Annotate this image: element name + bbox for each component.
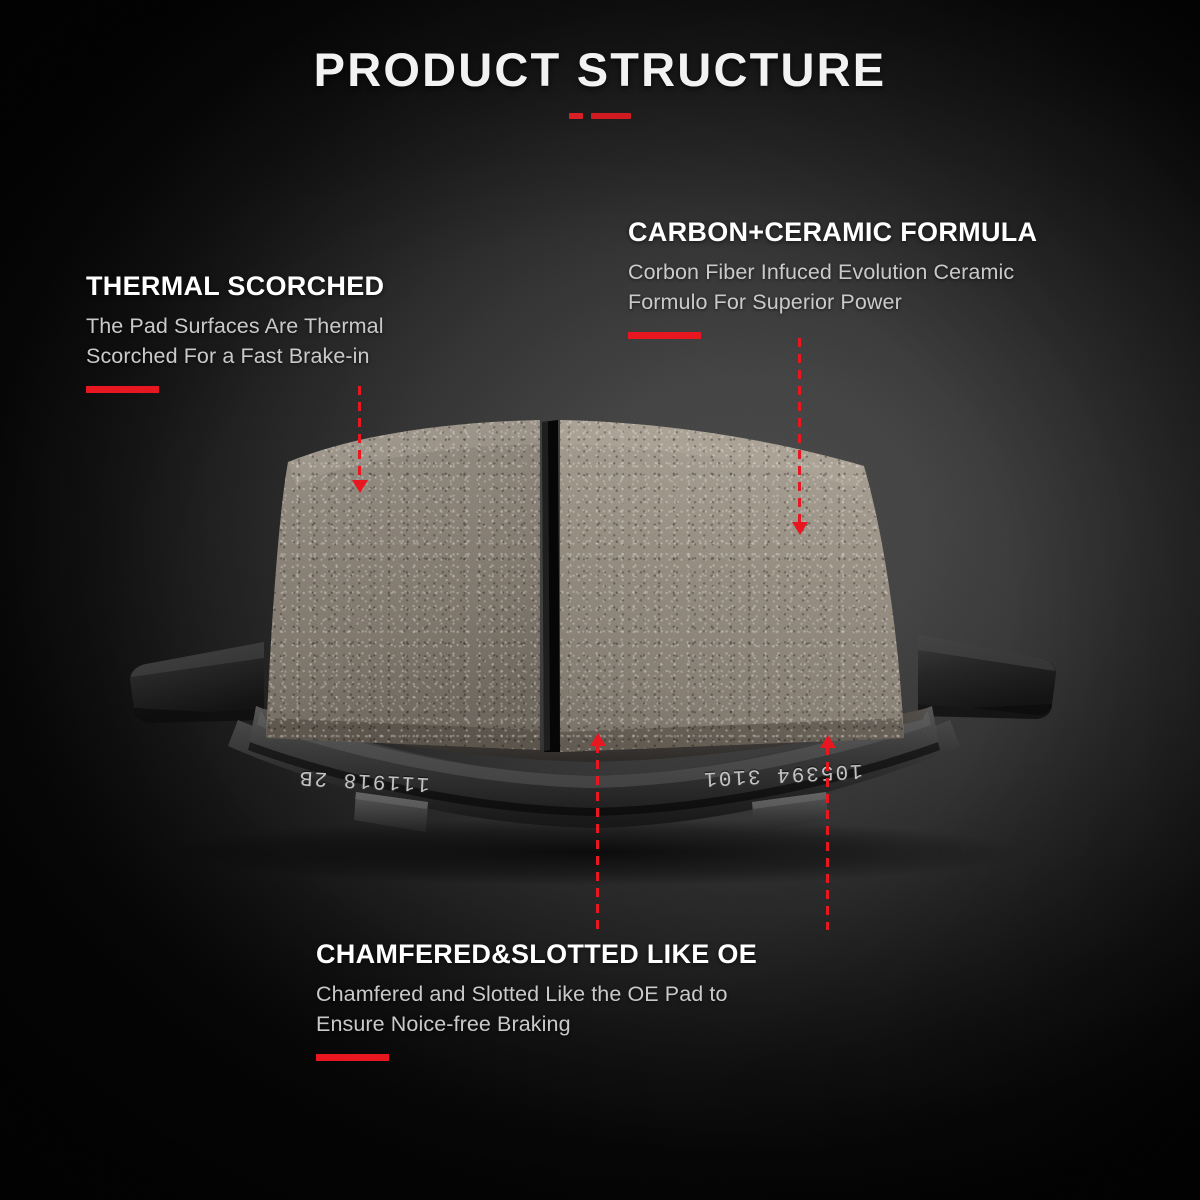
title-accent-dash-short	[569, 113, 583, 119]
leader-line-slot	[596, 744, 599, 930]
callout-chamfered-slotted: CHAMFERED&SLOTTED LIKE OE Chamfered and …	[316, 940, 757, 1061]
callout-thermal-scorched: THERMAL SCORCHED The Pad Surfaces Are Th…	[86, 272, 384, 393]
callout-heading: CARBON+CERAMIC FORMULA	[628, 218, 1037, 248]
callout-heading: THERMAL SCORCHED	[86, 272, 384, 302]
friction-face-left	[266, 420, 540, 750]
callout-body: The Pad Surfaces Are Thermal Scorched Fo…	[86, 311, 384, 372]
friction-face-right	[560, 420, 904, 752]
callout-carbon-ceramic-formula: CARBON+CERAMIC FORMULA Corbon Fiber Infu…	[628, 218, 1037, 339]
page-title: PRODUCT STRUCTURE	[0, 42, 1200, 97]
arrow-down-icon	[792, 522, 808, 535]
arrow-down-icon	[352, 480, 368, 493]
leader-line-formula	[798, 338, 801, 524]
brake-pad-svg	[88, 420, 1098, 880]
arrow-up-icon	[820, 735, 836, 748]
product-structure-infographic: PRODUCT STRUCTURE	[0, 0, 1200, 1200]
callout-body: Corbon Fiber Infuced Evolution Ceramic F…	[628, 257, 1037, 318]
title-accent-rule	[569, 113, 631, 119]
callout-heading: CHAMFERED&SLOTTED LIKE OE	[316, 940, 757, 970]
callout-accent-rule	[86, 386, 159, 393]
leader-line-chamfer	[826, 746, 829, 930]
callout-accent-rule	[316, 1054, 389, 1061]
title-accent-dash-long	[591, 113, 631, 119]
brake-pad-image	[88, 420, 1098, 880]
leader-line-thermal	[358, 386, 361, 482]
arrow-up-icon	[590, 733, 606, 746]
callout-accent-rule	[628, 332, 701, 339]
callout-body: Chamfered and Slotted Like the OE Pad to…	[316, 979, 757, 1040]
